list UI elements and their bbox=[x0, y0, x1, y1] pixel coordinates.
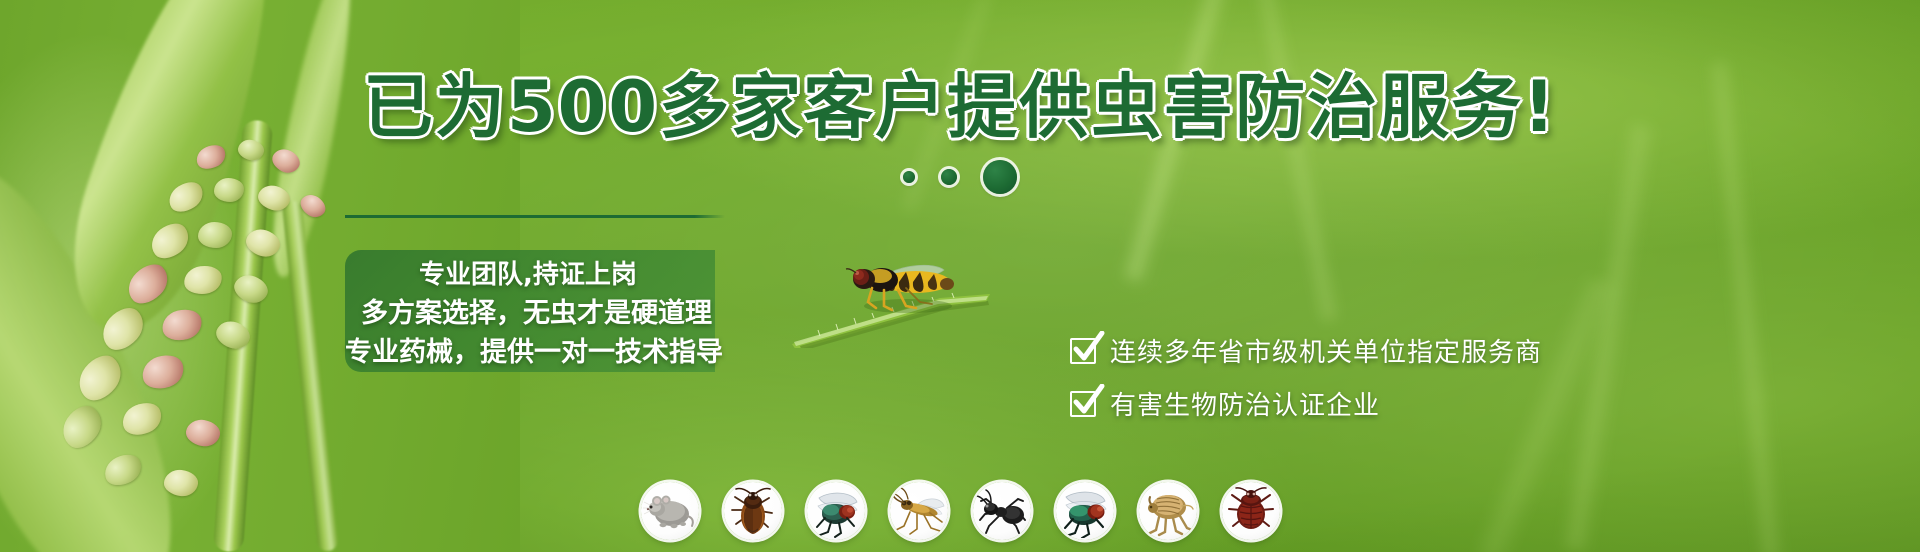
certification-list: 连续多年省市级机关单位指定服务商 有害生物防治认证企业 bbox=[1070, 332, 1542, 422]
selling-point-line: 专业团队,持证上岗 bbox=[345, 262, 875, 288]
selling-point-line: 多方案选择，无虫才是硬道理 bbox=[345, 300, 875, 327]
greenfly-icon[interactable]: 绿蝇 bbox=[1056, 482, 1114, 540]
banner-headline: 已为500多家客户提供虫害防治服务! bbox=[0, 72, 1920, 142]
ant-icon[interactable]: 蚂蚁 bbox=[973, 482, 1031, 540]
selling-points-list: 专业团队,持证上岗 多方案选择，无虫才是硬道理 专业药械，提供一对一技术指导 bbox=[345, 250, 875, 376]
pest-icon-row: 鼠 bbox=[0, 482, 1920, 540]
plant-bud bbox=[198, 222, 232, 248]
decor-dot-group bbox=[0, 160, 1920, 194]
decor-dot-large bbox=[983, 160, 1017, 194]
mouse-icon[interactable]: 鼠 bbox=[641, 482, 699, 540]
mosquito-icon[interactable]: 蚊 bbox=[890, 482, 948, 540]
flea-icon[interactable]: 跳蚤 bbox=[1139, 482, 1197, 540]
decor-dot-small bbox=[903, 171, 915, 183]
list-item: 有害生物防治认证企业 bbox=[1070, 385, 1542, 422]
bedbug-icon[interactable]: 臭虫 bbox=[1222, 482, 1280, 540]
housefly-icon[interactable]: 苍蝇 bbox=[807, 482, 865, 540]
selling-point-line: 专业药械，提供一对一技术指导 bbox=[345, 339, 875, 366]
checkbox-checked-icon bbox=[1070, 391, 1096, 417]
decor-dot-medium bbox=[941, 169, 957, 185]
list-item: 连续多年省市级机关单位指定服务商 bbox=[1070, 332, 1542, 369]
certification-label: 有害生物防治认证企业 bbox=[1110, 385, 1380, 422]
promo-banner: 已为500多家客户提供虫害防治服务! 专业团队,持证上岗 多方案选择，无虫才是硬… bbox=[0, 0, 1920, 552]
checkbox-checked-icon bbox=[1070, 338, 1096, 364]
cockroach-icon[interactable]: 蟑螂 bbox=[724, 482, 782, 540]
certification-label: 连续多年省市级机关单位指定服务商 bbox=[1110, 332, 1542, 369]
decor-divider-line bbox=[345, 215, 725, 218]
